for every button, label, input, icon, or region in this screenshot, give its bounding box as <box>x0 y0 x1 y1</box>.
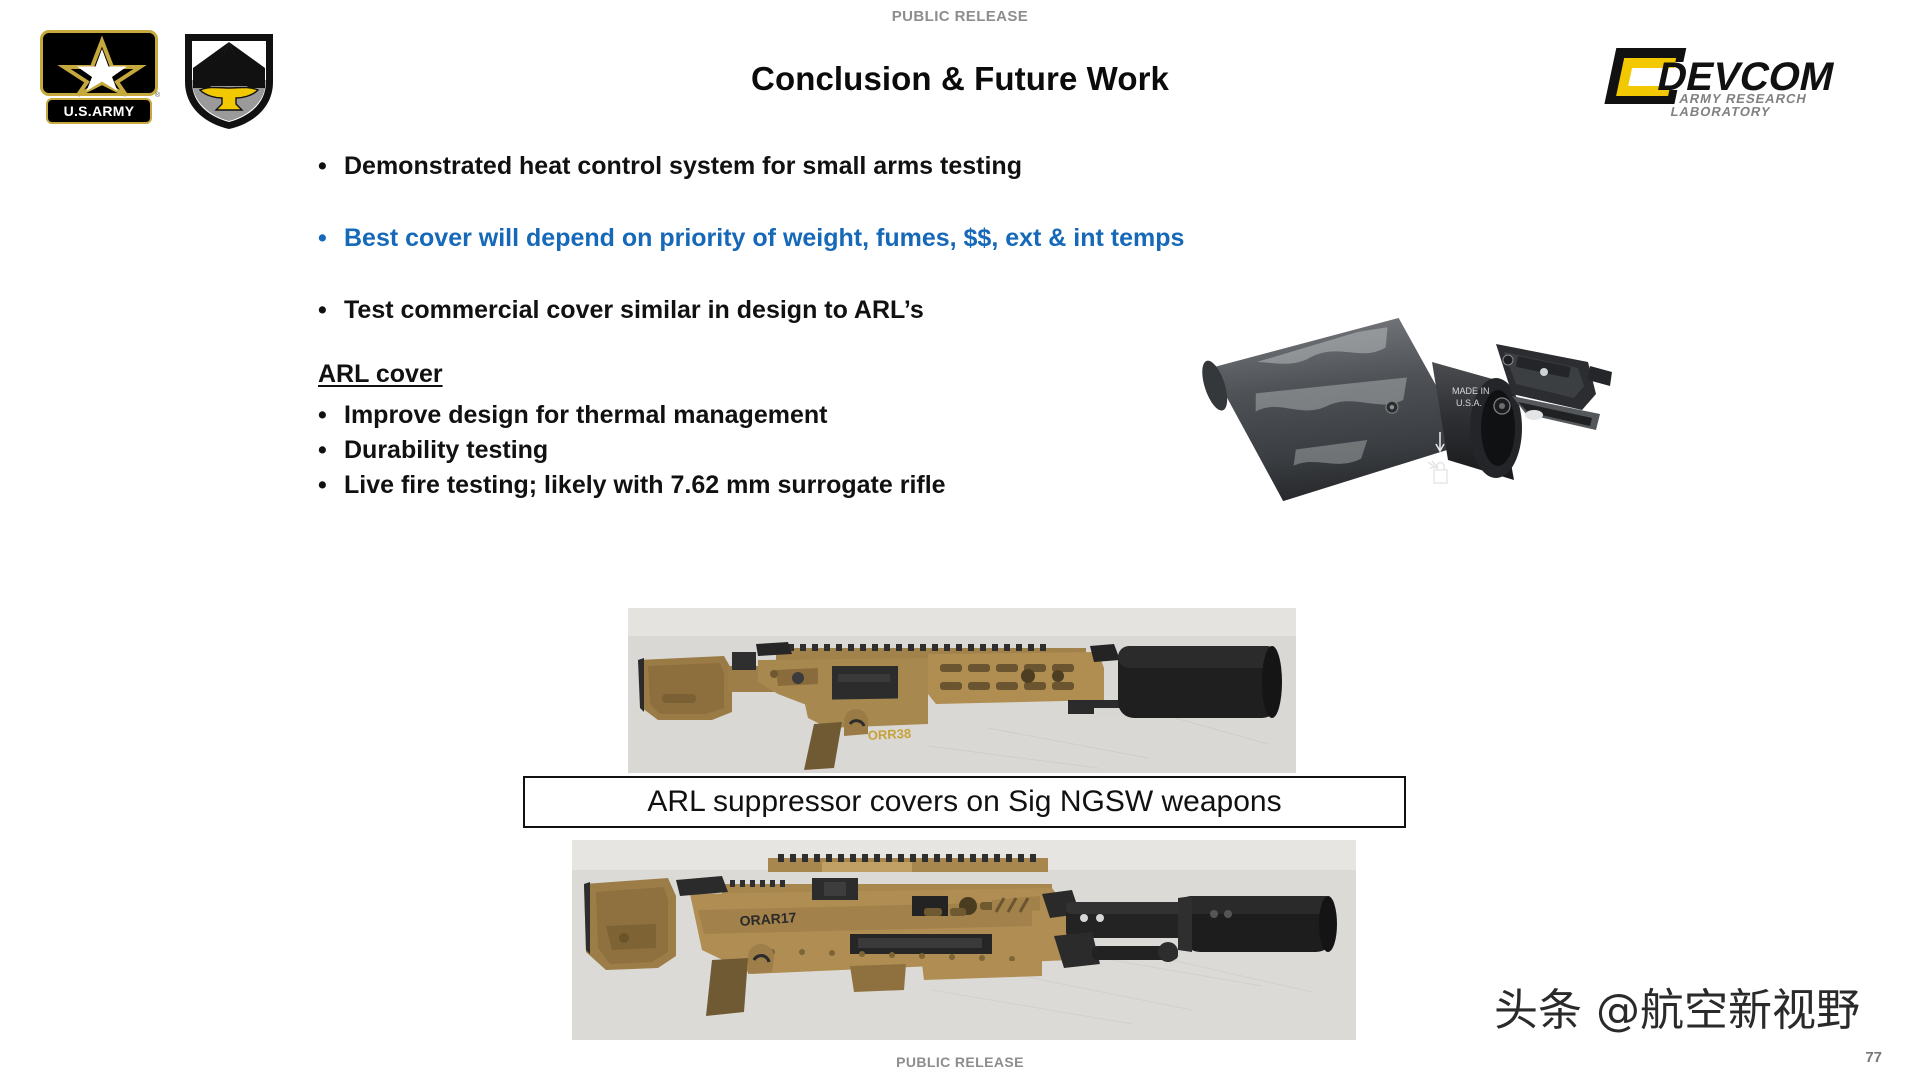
devcom-wordmark-icon: DEVCOM ARMY RESEARCH LABORATORY <box>1580 40 1880 120</box>
spacer <box>318 252 1618 296</box>
bullet-marker-icon: • <box>318 401 344 429</box>
watermark-text: 头条 @航空新视野 <box>1494 974 1860 1038</box>
bullet-marker-icon: • <box>318 224 344 252</box>
bullet-marker-icon: • <box>318 471 344 499</box>
army-star-icon <box>43 33 161 99</box>
footer-classification-banner: PUBLIC RELEASE <box>0 1054 1920 1070</box>
sub-bullet-text-2: Durability testing <box>344 436 548 464</box>
figure-caption-text: ARL suppressor covers on Sig NGSW weapon… <box>647 785 1281 819</box>
army-logo-box <box>40 30 158 96</box>
rifle-receiver-marking: ORR38 <box>867 726 911 743</box>
bullet-item-1: • Demonstrated heat control system for s… <box>318 152 1618 180</box>
slide-canvas: PUBLIC RELEASE Conclusion & Future Work … <box>0 0 1920 1080</box>
bullet-marker-icon: • <box>318 152 344 180</box>
army-logo-wordmark-band: U.S.ARMY <box>46 98 152 124</box>
ngsw-lmg-illustration: ORAR17 <box>572 840 1356 1040</box>
header-classification-banner: PUBLIC RELEASE <box>0 8 1920 25</box>
rotate-arrow-icon <box>1428 461 1437 468</box>
figure-caption-box: ARL suppressor covers on Sig NGSW weapon… <box>523 776 1406 828</box>
suppressor-cover-illustration: MADE IN U.S.A. <box>1196 310 1656 510</box>
anvil-shield-icon <box>180 28 278 132</box>
sub-bullet-text-3: Live fire testing; likely with 7.62 mm s… <box>344 471 946 499</box>
devcom-arl-logo: DEVCOM ARMY RESEARCH LABORATORY <box>1580 40 1880 120</box>
spacer <box>318 180 1618 224</box>
sig-ngsw-lmg-photo: ORAR17 <box>572 840 1356 1040</box>
page-number: 77 <box>1865 1049 1882 1066</box>
bullet-text-2: Best cover will depend on priority of we… <box>344 224 1184 252</box>
cover-marking-line2: U.S.A. <box>1456 398 1482 408</box>
arl-suppressor-cover-photo: MADE IN U.S.A. <box>1196 310 1656 510</box>
cover-marking-line1: MADE IN <box>1452 386 1490 396</box>
sub-bullet-text-1: Improve design for thermal management <box>344 401 827 429</box>
sig-ngsw-rifle-photo: ORR38 <box>628 608 1296 773</box>
devcom-anvil-shield-logo <box>180 28 278 132</box>
devcom-line2-text: LABORATORY <box>1669 104 1772 119</box>
bullet-text-3: Test commercial cover similar in design … <box>344 296 924 324</box>
bullet-marker-icon: • <box>318 436 344 464</box>
us-army-star-logo: U.S.ARMY ® <box>40 30 158 124</box>
arl-cover-heading: ARL cover <box>318 360 443 389</box>
bullet-marker-icon: • <box>318 296 344 324</box>
army-logo-wordmark: U.S.ARMY <box>64 104 135 118</box>
registered-mark-icon: ® <box>155 92 160 99</box>
ngsw-rifle-illustration: ORR38 <box>628 608 1296 773</box>
bullet-item-2: • Best cover will depend on priority of … <box>318 224 1618 252</box>
bullet-text-1: Demonstrated heat control system for sma… <box>344 152 1022 180</box>
